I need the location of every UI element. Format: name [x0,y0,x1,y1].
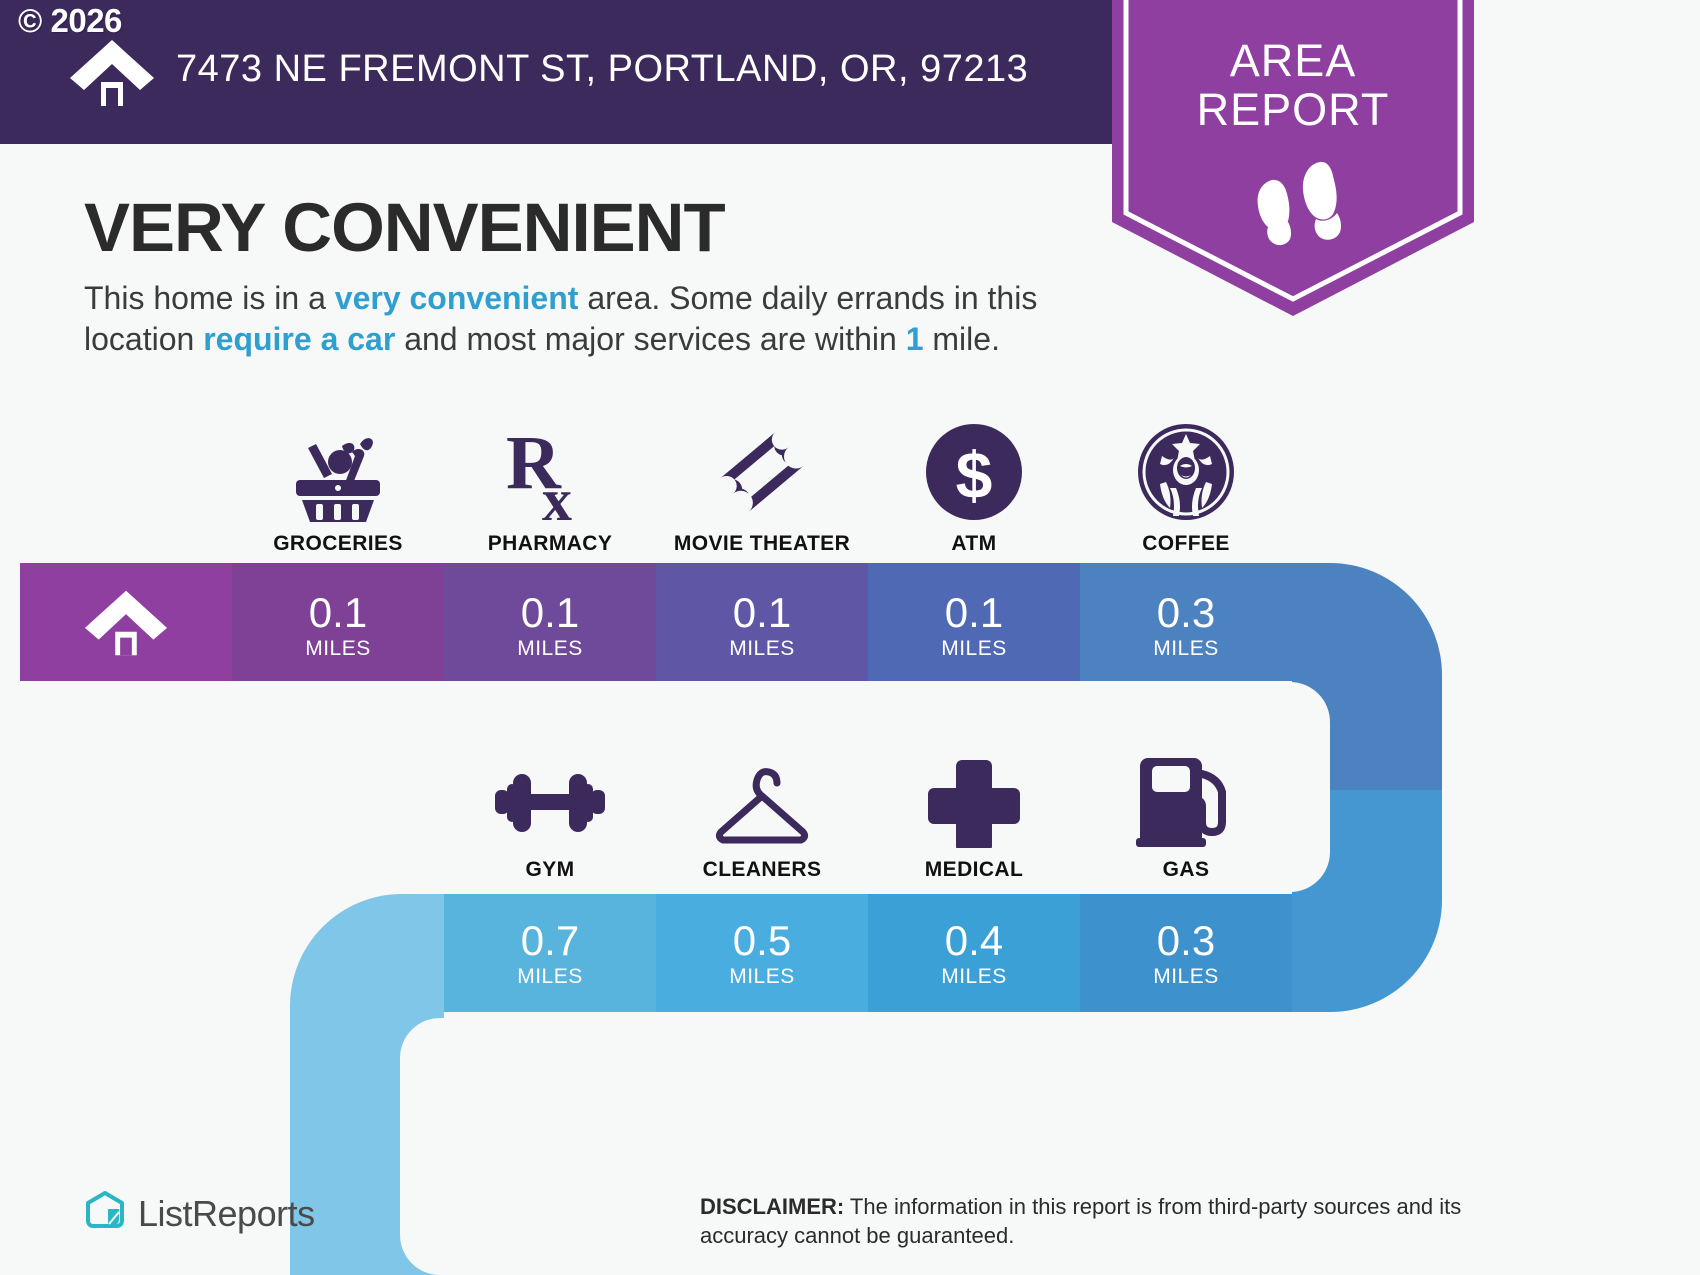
amenity-cleaners[interactable]: CLEANERS [656,738,868,882]
amenity-medical[interactable]: MEDICAL [868,738,1080,882]
cell-atm [868,563,1080,681]
cell-pharmacy [444,563,656,681]
amenity-label: MOVIE THEATER [656,532,868,556]
row2-segments [444,894,1292,1012]
listreports-brand-label: ListReports [138,1193,315,1235]
amenity-label: CLEANERS [656,858,868,882]
amenity-label: GROCERIES [232,532,444,556]
grocery-basket-icon [232,412,444,522]
amenity-pharmacy[interactable]: R x PHARMACY [444,412,656,556]
disclaimer-label: DISCLAIMER: [700,1194,844,1219]
rx-prescription-icon: R x [444,412,656,522]
svg-text:x: x [542,467,572,522]
badge-text: AREA REPORT [1112,36,1474,134]
listreports-logo[interactable]: ListReports [84,1190,315,1237]
cell-gym [444,894,656,1012]
cell-groceries [232,563,444,681]
cell-gas [1080,894,1292,1012]
movie-ticket-icon [656,412,868,522]
amenity-gas[interactable]: GAS [1080,738,1292,882]
disclaimer: DISCLAIMER: The information in this repo… [700,1192,1500,1250]
amenity-groceries[interactable]: GROCERIES [232,412,444,556]
home-marker [20,563,232,681]
badge-line-1: AREA [1112,36,1474,85]
badge-line-2: REPORT [1112,85,1474,134]
amenity-atm[interactable]: $ ATM [868,412,1080,556]
cell-coffee [1080,563,1292,681]
dollar-coin-icon: $ [868,412,1080,522]
amenity-label: GAS [1080,858,1292,882]
amenity-movie-theater[interactable]: MOVIE THEATER [656,412,868,556]
clothes-hanger-icon [656,738,868,848]
medical-cross-icon [868,738,1080,848]
gas-pump-icon [1080,738,1292,848]
listreports-logo-icon [84,1190,126,1237]
dumbbell-icon [444,738,656,848]
amenity-label: PHARMACY [444,532,656,556]
area-report-badge: AREA REPORT [1112,0,1474,316]
cell-cleaners [656,894,868,1012]
amenity-coffee[interactable]: COFFEE [1080,412,1292,556]
cell-movie-theater [656,563,868,681]
cell-medical [868,894,1080,1012]
starbucks-siren-icon [1080,412,1292,522]
amenity-label: ATM [868,532,1080,556]
amenity-label: GYM [444,858,656,882]
svg-text:$: $ [956,438,993,512]
amenity-label: MEDICAL [868,858,1080,882]
amenity-gym[interactable]: GYM [444,738,656,882]
amenity-label: COFFEE [1080,532,1292,556]
